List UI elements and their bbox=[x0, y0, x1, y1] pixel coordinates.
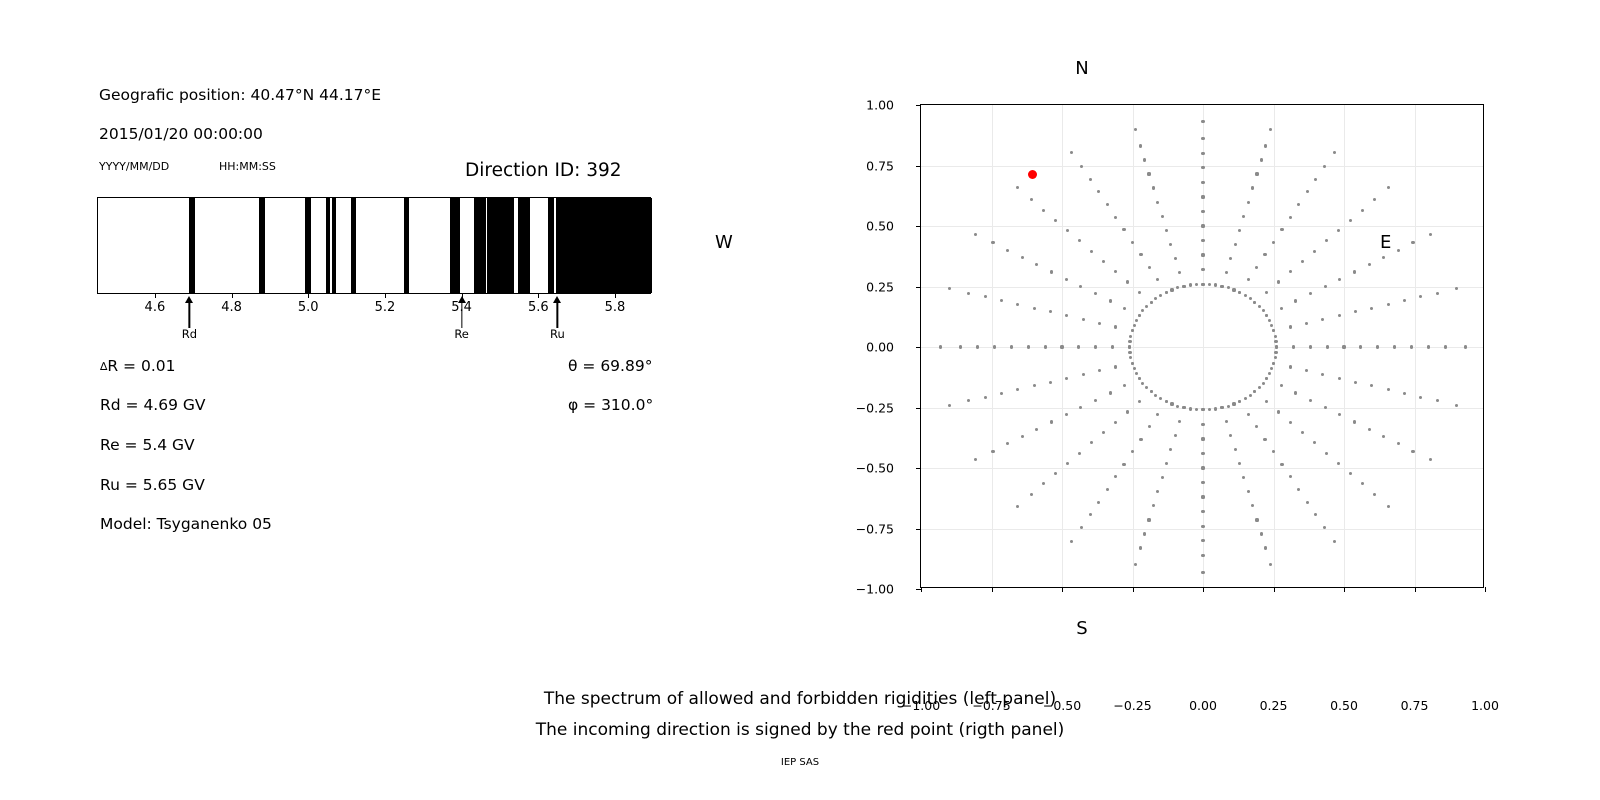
compass-west-label: W bbox=[715, 232, 733, 253]
direction-dot bbox=[1277, 410, 1280, 413]
direction-dot bbox=[1170, 402, 1173, 405]
direction-dot bbox=[1361, 209, 1364, 212]
direction-dot bbox=[1201, 195, 1204, 198]
direction-dot bbox=[1195, 408, 1198, 411]
direction-dot bbox=[1021, 256, 1024, 259]
map-y-tick bbox=[916, 287, 921, 288]
direction-dot bbox=[1444, 345, 1447, 348]
direction-dot bbox=[1165, 229, 1168, 232]
direction-dot bbox=[1128, 340, 1131, 343]
direction-dot bbox=[1082, 373, 1085, 376]
direction-dot bbox=[1354, 310, 1357, 313]
direction-dot bbox=[1201, 224, 1204, 227]
direction-dot bbox=[1309, 345, 1312, 348]
direction-dot bbox=[1289, 475, 1292, 478]
direction-dot bbox=[1464, 345, 1467, 348]
direction-dot bbox=[1274, 351, 1277, 354]
direction-dot bbox=[1145, 386, 1148, 389]
direction-dot bbox=[1094, 345, 1097, 348]
direction-dot bbox=[1082, 318, 1085, 321]
direction-dot bbox=[1387, 186, 1390, 189]
direction-dot bbox=[1387, 303, 1390, 306]
direction-dot bbox=[1016, 186, 1019, 189]
direction-dot bbox=[1234, 243, 1237, 246]
marker-label: Re bbox=[454, 327, 469, 341]
map-y-tick-label: 1.00 bbox=[866, 98, 894, 113]
forbidden-band bbox=[189, 198, 195, 293]
direction-dot bbox=[1161, 215, 1164, 218]
direction-dot bbox=[1080, 165, 1083, 168]
direction-dot bbox=[1131, 241, 1134, 244]
direction-dot bbox=[1255, 172, 1258, 175]
direction-dot bbox=[1201, 120, 1204, 123]
direction-dot bbox=[1049, 381, 1052, 384]
direction-dot bbox=[1134, 128, 1137, 131]
map-x-tick bbox=[1274, 587, 1275, 592]
direction-dot bbox=[1321, 373, 1324, 376]
direction-dot bbox=[1289, 365, 1292, 368]
direction-dot bbox=[1244, 294, 1247, 297]
direction-dot bbox=[1255, 425, 1258, 428]
direction-dot bbox=[1159, 294, 1162, 297]
direction-dot bbox=[1253, 301, 1256, 304]
marker-label: Rd bbox=[182, 327, 197, 341]
direction-dot bbox=[1070, 151, 1073, 154]
direction-dot bbox=[1128, 351, 1131, 354]
direction-dot bbox=[1122, 463, 1125, 466]
forbidden-band bbox=[556, 198, 652, 293]
direction-dot bbox=[967, 399, 970, 402]
direction-dot bbox=[1373, 198, 1376, 201]
direction-dot bbox=[1126, 410, 1129, 413]
direction-dot bbox=[1242, 476, 1245, 479]
gridline-horizontal bbox=[921, 347, 1483, 348]
direction-dot bbox=[1289, 325, 1292, 328]
direction-dot bbox=[1102, 260, 1105, 263]
direction-dot bbox=[1289, 421, 1292, 424]
direction-dot bbox=[984, 295, 987, 298]
direction-dot bbox=[1324, 285, 1327, 288]
direction-dot bbox=[1251, 186, 1254, 189]
direction-dot bbox=[1139, 253, 1142, 256]
direction-dot bbox=[948, 287, 951, 290]
direction-dot bbox=[1050, 270, 1053, 273]
direction-dot bbox=[1253, 390, 1256, 393]
direction-dot bbox=[1251, 504, 1254, 507]
direction-dot bbox=[1006, 442, 1009, 445]
direction-dot bbox=[1272, 450, 1275, 453]
direction-dot bbox=[1359, 345, 1362, 348]
direction-dot bbox=[1135, 372, 1138, 375]
direction-id-label: Direction ID: 392 bbox=[465, 160, 622, 181]
map-y-tick-label: 0.75 bbox=[866, 158, 894, 173]
direction-dot bbox=[1234, 448, 1237, 451]
direction-map-plot-area: −1.00−0.75−0.50−0.250.000.250.500.751.00… bbox=[920, 104, 1484, 588]
direction-dot bbox=[939, 345, 942, 348]
direction-dot bbox=[1260, 532, 1263, 535]
direction-dot bbox=[1201, 181, 1204, 184]
direction-dot bbox=[1195, 283, 1198, 286]
direction-dot bbox=[1314, 178, 1317, 181]
map-y-tick bbox=[916, 347, 921, 348]
direction-dot bbox=[1429, 458, 1432, 461]
spectrum-x-tick-label: 5.2 bbox=[375, 300, 396, 315]
direction-dot bbox=[1238, 462, 1241, 465]
phi-stat: φ = 310.0° bbox=[568, 396, 653, 414]
direction-dot bbox=[1135, 319, 1138, 322]
direction-dot bbox=[1123, 307, 1126, 310]
direction-dot bbox=[1403, 299, 1406, 302]
direction-dot bbox=[1066, 462, 1069, 465]
direction-dot bbox=[1323, 165, 1326, 168]
direction-dot bbox=[1249, 394, 1252, 397]
direction-dot bbox=[1027, 345, 1030, 348]
direction-dot bbox=[1264, 144, 1267, 147]
direction-dot bbox=[1368, 428, 1371, 431]
direction-dot bbox=[1214, 283, 1217, 286]
delta-r-stat: ∆R = 0.01 bbox=[100, 357, 175, 375]
direction-dot bbox=[1201, 253, 1204, 256]
direction-dot bbox=[1141, 382, 1144, 385]
map-y-tick bbox=[916, 529, 921, 530]
marker-label: Ru bbox=[550, 327, 565, 341]
direction-dot bbox=[1338, 314, 1341, 317]
direction-dot bbox=[991, 450, 994, 453]
map-y-tick bbox=[916, 105, 921, 106]
direction-dot bbox=[974, 458, 977, 461]
direction-dot bbox=[1353, 270, 1356, 273]
direction-dot bbox=[1265, 400, 1268, 403]
spectrum-x-tick bbox=[308, 294, 309, 298]
map-y-tick-label: −1.00 bbox=[856, 582, 894, 597]
direction-dot bbox=[1156, 278, 1159, 281]
direction-dot bbox=[1255, 266, 1258, 269]
direction-dot bbox=[1201, 571, 1204, 574]
direction-dot bbox=[1289, 216, 1292, 219]
direction-dot bbox=[1133, 324, 1136, 327]
direction-dot bbox=[1382, 435, 1385, 438]
caption-line-2: The incoming direction is signed by the … bbox=[0, 720, 1600, 740]
direction-dot bbox=[1161, 476, 1164, 479]
direction-dot bbox=[1338, 278, 1341, 281]
direction-dot bbox=[1156, 490, 1159, 493]
direction-dot bbox=[1201, 152, 1204, 155]
datetime-label: 2015/01/20 00:00:00 bbox=[99, 125, 263, 143]
compass-south-label: S bbox=[800, 618, 1364, 639]
direction-dot bbox=[1247, 278, 1250, 281]
direction-dot bbox=[1201, 466, 1204, 469]
direction-dot bbox=[967, 292, 970, 295]
direction-dot bbox=[1289, 270, 1292, 273]
direction-dot bbox=[1145, 305, 1148, 308]
direction-dot bbox=[1109, 299, 1112, 302]
direction-dot bbox=[1147, 172, 1150, 175]
map-y-tick-label: −0.25 bbox=[856, 400, 894, 415]
direction-dot bbox=[991, 241, 994, 244]
direction-dot bbox=[1313, 250, 1316, 253]
map-x-tick bbox=[1415, 587, 1416, 592]
gridline-vertical bbox=[1203, 105, 1204, 587]
direction-dot bbox=[1397, 442, 1400, 445]
direction-dot bbox=[1232, 288, 1235, 291]
direction-dot bbox=[1021, 435, 1024, 438]
direction-dot bbox=[1139, 438, 1142, 441]
direction-dot bbox=[1393, 345, 1396, 348]
direction-dot bbox=[1016, 388, 1019, 391]
ru-stat: Ru = 5.65 GV bbox=[100, 476, 205, 494]
direction-dot bbox=[1201, 166, 1204, 169]
direction-dot bbox=[1169, 243, 1172, 246]
direction-dot bbox=[1305, 369, 1308, 372]
direction-dot bbox=[1126, 280, 1129, 283]
direction-dot bbox=[1060, 345, 1063, 348]
direction-dot bbox=[1323, 526, 1326, 529]
direction-dot bbox=[1134, 563, 1137, 566]
direction-dot bbox=[1090, 250, 1093, 253]
direction-dot bbox=[1201, 539, 1204, 542]
direction-dot bbox=[1111, 345, 1114, 348]
map-y-tick bbox=[916, 408, 921, 409]
direction-dot bbox=[1238, 291, 1241, 294]
map-x-tick bbox=[1133, 587, 1134, 592]
direction-dot bbox=[948, 404, 951, 407]
direction-dot bbox=[1265, 291, 1268, 294]
direction-dot bbox=[1244, 397, 1247, 400]
direction-dot bbox=[1268, 372, 1271, 375]
map-y-tick bbox=[916, 166, 921, 167]
direction-dot bbox=[1333, 540, 1336, 543]
direction-dot bbox=[1122, 228, 1125, 231]
direction-dot bbox=[1262, 309, 1265, 312]
direction-dot bbox=[1201, 437, 1204, 440]
marker-stem bbox=[461, 300, 462, 328]
direction-dot bbox=[1006, 249, 1009, 252]
direction-dot bbox=[1419, 396, 1422, 399]
direction-dot bbox=[1269, 128, 1272, 131]
map-y-tick-label: 0.00 bbox=[866, 340, 894, 355]
map-x-tick bbox=[992, 587, 993, 592]
map-y-tick-label: 0.25 bbox=[866, 279, 894, 294]
delta-r-value: R = 0.01 bbox=[107, 357, 175, 375]
direction-dot bbox=[1305, 322, 1308, 325]
direction-dot bbox=[1297, 203, 1300, 206]
rigidity-spectrum-panel: Geografic position: 40.47°N 44.17°E 2015… bbox=[0, 0, 800, 800]
model-stat: Model: Tsyganenko 05 bbox=[100, 515, 272, 533]
direction-dot bbox=[1201, 495, 1204, 498]
direction-dot bbox=[1066, 229, 1069, 232]
direction-map-panel: −1.00−0.75−0.50−0.250.000.250.500.751.00… bbox=[800, 0, 1600, 800]
direction-dot bbox=[1429, 233, 1432, 236]
direction-dot bbox=[1232, 402, 1235, 405]
direction-dot bbox=[1338, 413, 1341, 416]
spectrum-x-tick bbox=[155, 294, 156, 298]
direction-dot bbox=[1050, 420, 1053, 423]
direction-dot bbox=[959, 345, 962, 348]
direction-dot bbox=[1131, 450, 1134, 453]
direction-dot bbox=[1094, 399, 1097, 402]
direction-dot bbox=[1227, 405, 1230, 408]
map-x-tick bbox=[1344, 587, 1345, 592]
direction-dot bbox=[1165, 291, 1168, 294]
direction-dot bbox=[1141, 309, 1144, 312]
direction-dot bbox=[1321, 318, 1324, 321]
direction-dot bbox=[1274, 335, 1277, 338]
direction-dot bbox=[1138, 400, 1141, 403]
forbidden-band bbox=[326, 198, 330, 293]
direction-dot bbox=[1294, 299, 1297, 302]
direction-dot bbox=[1436, 292, 1439, 295]
direction-dot bbox=[1189, 407, 1192, 410]
theta-stat: θ = 69.89° bbox=[568, 357, 652, 375]
direction-dot bbox=[1169, 448, 1172, 451]
direction-dot bbox=[984, 396, 987, 399]
direction-dot bbox=[1324, 406, 1327, 409]
spectrum-x-tick bbox=[615, 294, 616, 298]
direction-dot bbox=[1258, 386, 1261, 389]
direction-dot bbox=[1033, 307, 1036, 310]
direction-dot bbox=[976, 345, 979, 348]
direction-dot bbox=[1265, 377, 1268, 380]
direction-dot bbox=[1148, 266, 1151, 269]
direction-dot bbox=[1131, 362, 1134, 365]
direction-dot bbox=[1314, 513, 1317, 516]
direction-dot bbox=[1220, 285, 1223, 288]
direction-dot bbox=[1139, 546, 1142, 549]
compass-east-label: E bbox=[1380, 232, 1391, 253]
direction-dot bbox=[1201, 481, 1204, 484]
map-y-tick-label: 0.50 bbox=[866, 219, 894, 234]
direction-dot bbox=[1333, 151, 1336, 154]
direction-dot bbox=[1079, 406, 1082, 409]
direction-dot bbox=[1258, 305, 1261, 308]
direction-dot bbox=[1326, 345, 1329, 348]
direction-dot bbox=[1201, 423, 1204, 426]
direction-dot bbox=[1201, 452, 1204, 455]
direction-dot bbox=[1065, 413, 1068, 416]
direction-dot bbox=[1089, 513, 1092, 516]
direction-dot bbox=[1174, 257, 1177, 260]
direction-dot bbox=[1189, 283, 1192, 286]
direction-dot bbox=[1133, 367, 1136, 370]
time-format-hint: HH:MM:SS bbox=[219, 160, 276, 173]
direction-dot bbox=[1156, 413, 1159, 416]
direction-dot bbox=[1000, 299, 1003, 302]
direction-dot bbox=[1201, 137, 1204, 140]
direction-dot bbox=[1255, 518, 1258, 521]
direction-dot bbox=[1208, 408, 1211, 411]
direction-dot bbox=[1309, 292, 1312, 295]
forbidden-band bbox=[404, 198, 409, 293]
rigidity-marker-re: Re bbox=[432, 294, 492, 350]
direction-dot bbox=[1455, 287, 1458, 290]
direction-dot bbox=[1114, 421, 1117, 424]
direction-dot bbox=[1138, 377, 1141, 380]
direction-dot bbox=[1272, 362, 1275, 365]
direction-dot bbox=[1269, 563, 1272, 566]
direction-dot bbox=[1275, 345, 1278, 348]
direction-dot bbox=[1277, 280, 1280, 283]
map-x-tick bbox=[921, 587, 922, 592]
direction-dot bbox=[1042, 482, 1045, 485]
direction-dot bbox=[1427, 345, 1430, 348]
direction-dot bbox=[1264, 546, 1267, 549]
spectrum-plot-area bbox=[97, 197, 651, 294]
direction-dot bbox=[1325, 239, 1328, 242]
direction-dot bbox=[1455, 404, 1458, 407]
direction-dot bbox=[1274, 340, 1277, 343]
direction-dot bbox=[1201, 554, 1204, 557]
forbidden-band bbox=[259, 198, 265, 293]
direction-dot bbox=[1042, 209, 1045, 212]
direction-dot bbox=[1147, 518, 1150, 521]
direction-dot bbox=[1349, 472, 1352, 475]
rd-stat: Rd = 4.69 GV bbox=[100, 396, 206, 414]
direction-dot bbox=[1201, 210, 1204, 213]
spectrum-x-tick-label: 4.8 bbox=[221, 300, 242, 315]
direction-dot bbox=[1411, 450, 1414, 453]
direction-dot bbox=[1208, 283, 1211, 286]
direction-dot bbox=[1337, 462, 1340, 465]
direction-dot bbox=[1201, 283, 1204, 286]
direction-dot bbox=[1272, 241, 1275, 244]
direction-dot bbox=[1094, 292, 1097, 295]
direction-dot bbox=[1280, 307, 1283, 310]
direction-dot bbox=[1143, 158, 1146, 161]
forbidden-band bbox=[548, 198, 554, 293]
direction-dot bbox=[1306, 190, 1309, 193]
gridline-vertical bbox=[1133, 105, 1134, 587]
direction-dot bbox=[1387, 505, 1390, 508]
direction-dot bbox=[1128, 345, 1131, 348]
direction-dot bbox=[1000, 392, 1003, 395]
direction-dot bbox=[1030, 198, 1033, 201]
direction-dot bbox=[1263, 253, 1266, 256]
rigidity-marker-ru: Ru bbox=[527, 294, 587, 350]
direction-dot bbox=[1201, 408, 1204, 411]
direction-dot bbox=[1178, 420, 1181, 423]
direction-dot bbox=[1410, 345, 1413, 348]
direction-dot bbox=[1097, 501, 1100, 504]
direction-dot bbox=[1078, 239, 1081, 242]
direction-dot bbox=[1342, 345, 1345, 348]
forbidden-band bbox=[305, 198, 311, 293]
direction-dot bbox=[1114, 325, 1117, 328]
direction-dot bbox=[1201, 510, 1204, 513]
direction-dot bbox=[1097, 190, 1100, 193]
forbidden-band bbox=[474, 198, 486, 293]
direction-dot bbox=[1306, 501, 1309, 504]
direction-dot bbox=[1182, 406, 1185, 409]
forbidden-band bbox=[351, 198, 356, 293]
re-stat: Re = 5.4 GV bbox=[100, 436, 195, 454]
map-x-tick bbox=[1062, 587, 1063, 592]
direction-dot bbox=[1035, 263, 1038, 266]
direction-dot bbox=[1170, 288, 1173, 291]
spectrum-x-axis: 4.64.85.05.25.45.65.8RdReRu bbox=[97, 294, 651, 354]
direction-dot bbox=[1098, 322, 1101, 325]
direction-dot bbox=[1354, 381, 1357, 384]
geographic-position-label: Geografic position: 40.47°N 44.17°E bbox=[99, 86, 381, 104]
direction-dot bbox=[1035, 428, 1038, 431]
rigidity-spectrum-chart bbox=[97, 197, 651, 294]
direction-dot bbox=[1150, 301, 1153, 304]
direction-dot bbox=[1419, 295, 1422, 298]
gridline-horizontal bbox=[921, 529, 1483, 530]
direction-dot bbox=[1280, 228, 1283, 231]
direction-dot bbox=[1238, 229, 1241, 232]
direction-dot bbox=[1370, 307, 1373, 310]
direction-dot bbox=[1131, 329, 1134, 332]
